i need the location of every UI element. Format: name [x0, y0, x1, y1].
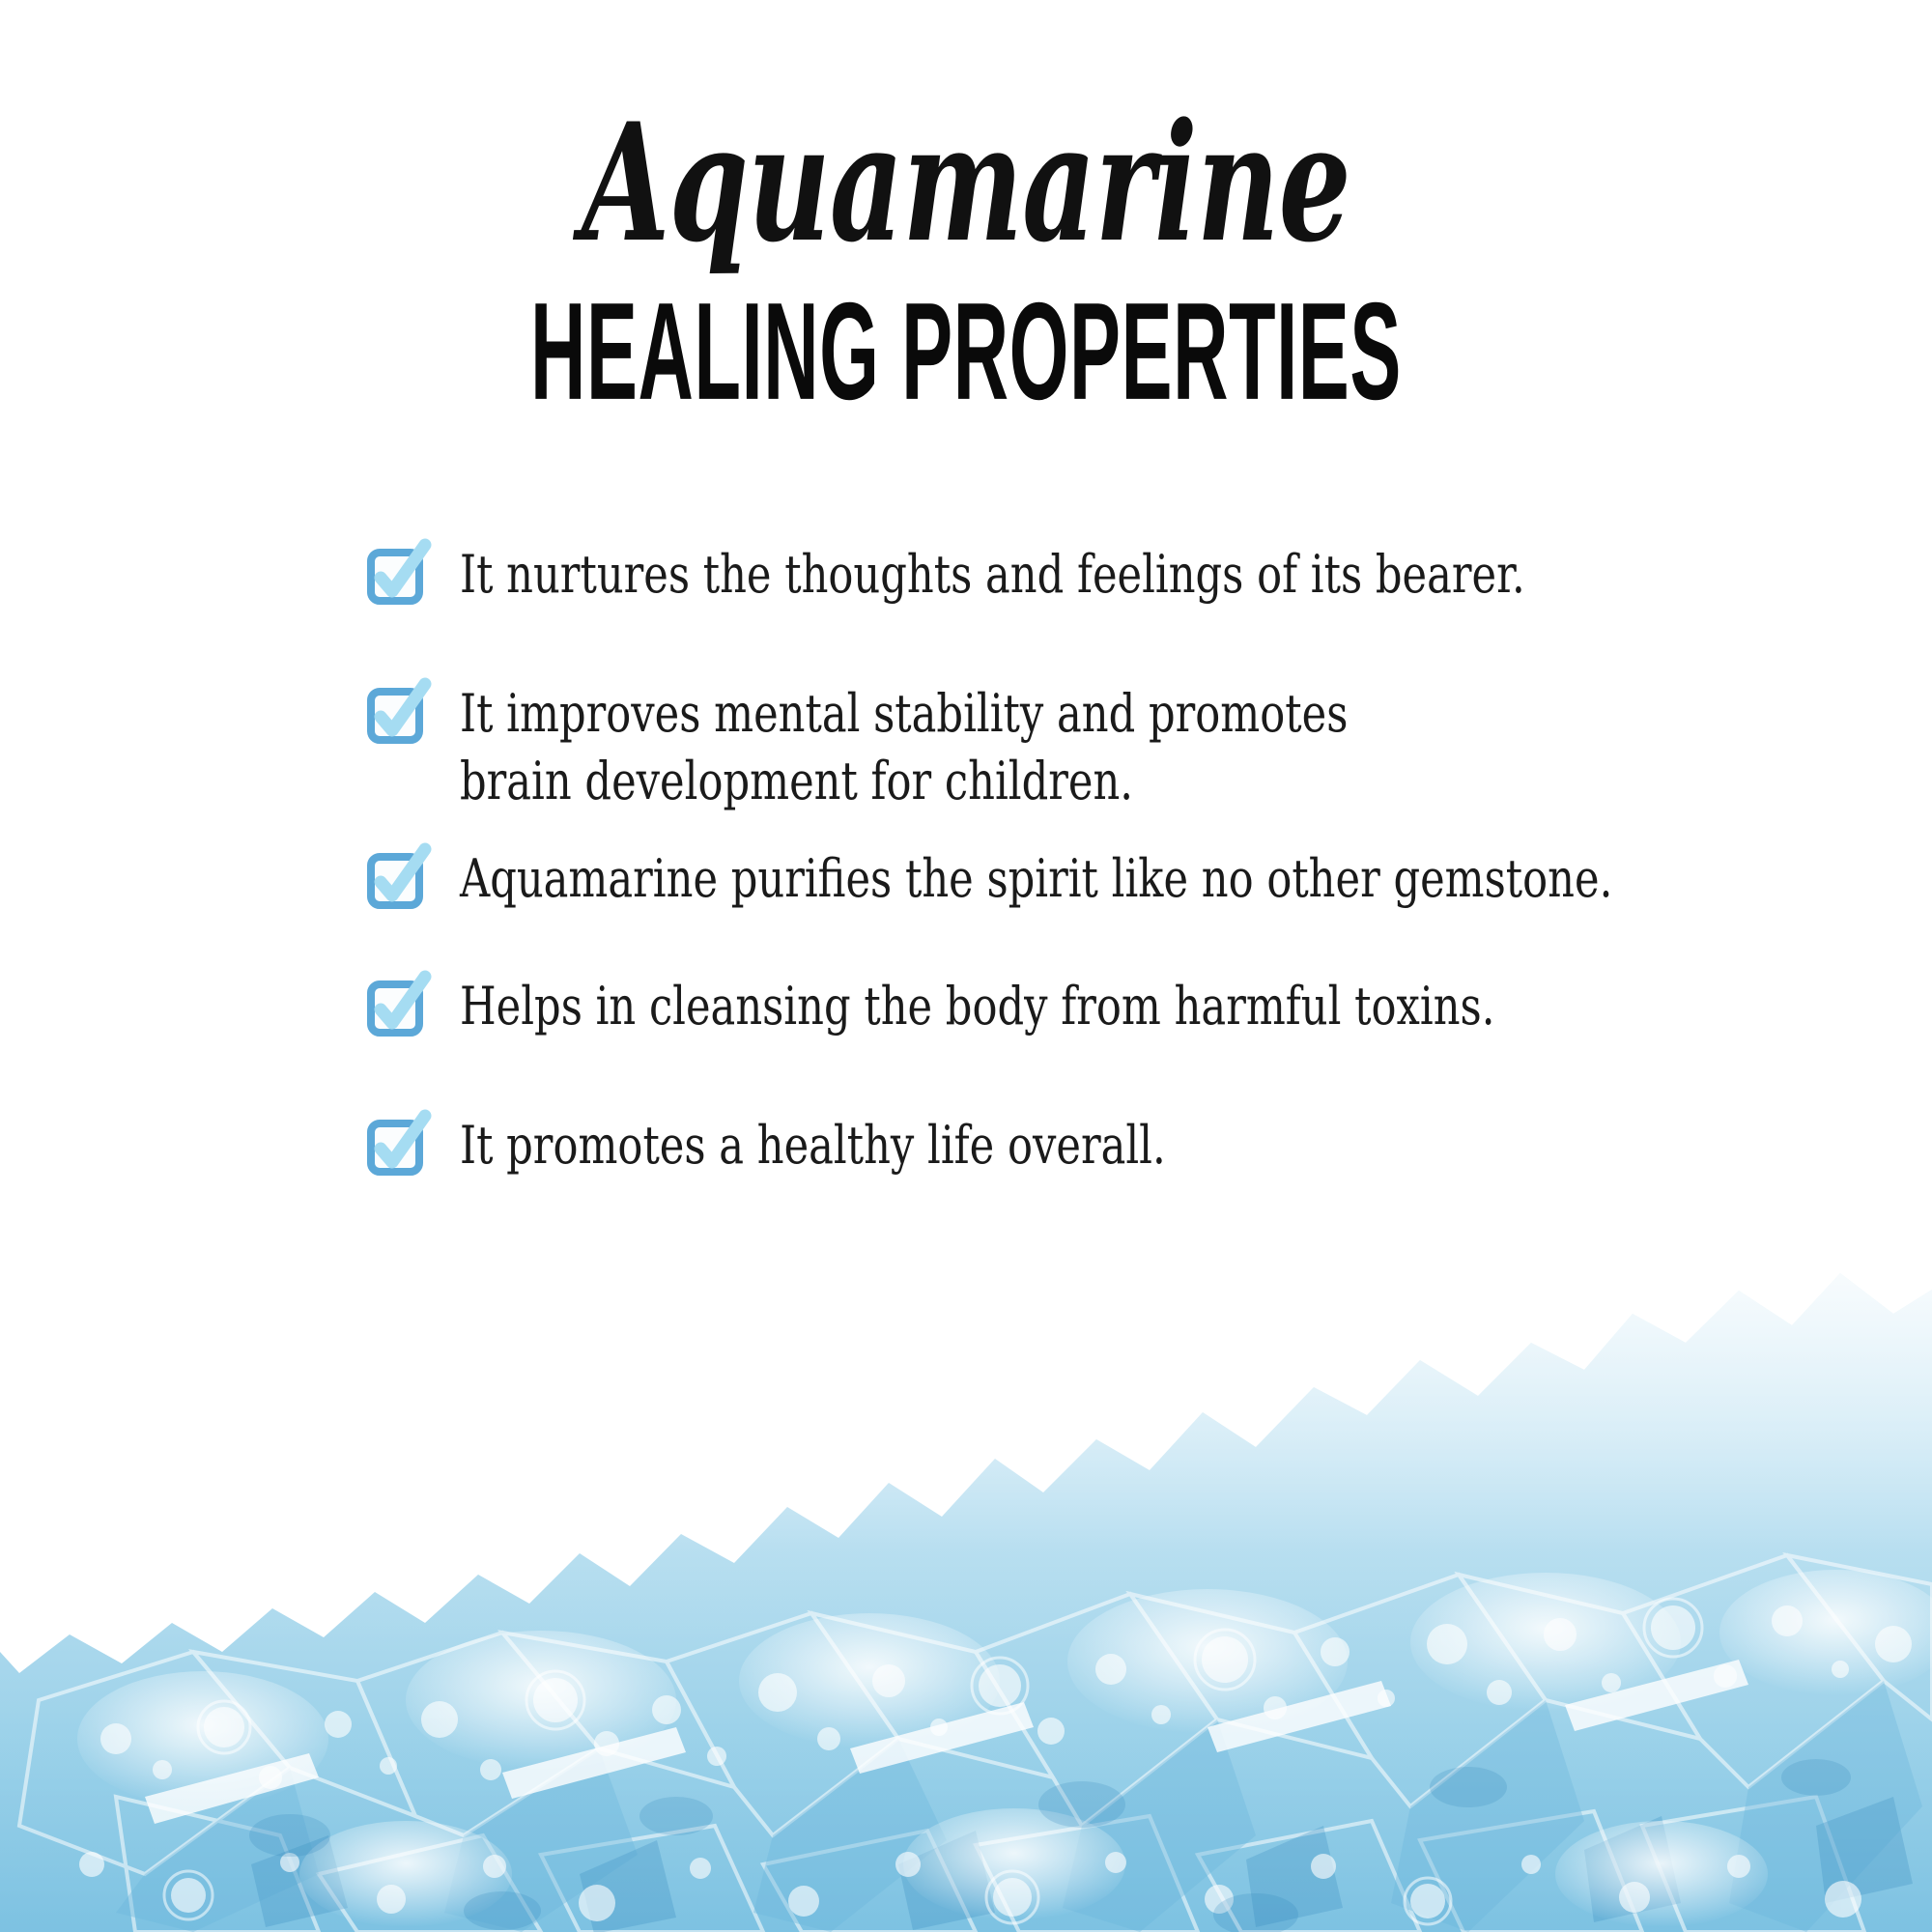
list-item: Aquamarine purifies the spirit like no o…	[367, 845, 1835, 913]
poster-canvas: Aquamarine HEALING PROPERTIES It nurture…	[0, 0, 1932, 1932]
list-item: It improves mental stability and promote…	[367, 680, 1835, 815]
list-item-line: Aquamarine purifies the spirit like no o…	[460, 845, 1612, 913]
list-item-text: Aquamarine purifies the spirit like no o…	[460, 845, 1612, 913]
checkbox-checked-icon	[367, 684, 427, 744]
checkbox-checked-icon	[367, 849, 427, 909]
list-item-line: It nurtures the thoughts and feelings of…	[460, 541, 1525, 609]
healing-properties-list: It nurtures the thoughts and feelings of…	[367, 541, 1835, 1179]
checkbox-checked-icon	[367, 545, 427, 605]
ice-cubes-photo	[0, 1198, 1932, 1932]
list-item-line: brain development for children.	[460, 748, 1348, 815]
list-item-text: Helps in cleansing the body from harmful…	[460, 973, 1494, 1040]
poster-header: Aquamarine HEALING PROPERTIES	[0, 0, 1932, 407]
list-item-text: It improves mental stability and promote…	[460, 680, 1348, 815]
list-item-text: It promotes a healthy life overall.	[460, 1112, 1166, 1179]
checkbox-checked-icon	[367, 977, 427, 1037]
list-item-line: It improves mental stability and promote…	[460, 680, 1348, 748]
page-subtitle: HEALING PROPERTIES	[367, 283, 1565, 421]
page-title: Aquamarine	[290, 0, 1642, 264]
list-item-line: It promotes a healthy life overall.	[460, 1112, 1166, 1179]
list-item: It nurtures the thoughts and feelings of…	[367, 541, 1835, 609]
list-item: Helps in cleansing the body from harmful…	[367, 973, 1835, 1040]
list-item: It promotes a healthy life overall.	[367, 1112, 1835, 1179]
list-item-line: Helps in cleansing the body from harmful…	[460, 973, 1494, 1040]
list-item-text: It nurtures the thoughts and feelings of…	[460, 541, 1525, 609]
checkbox-checked-icon	[367, 1116, 427, 1176]
